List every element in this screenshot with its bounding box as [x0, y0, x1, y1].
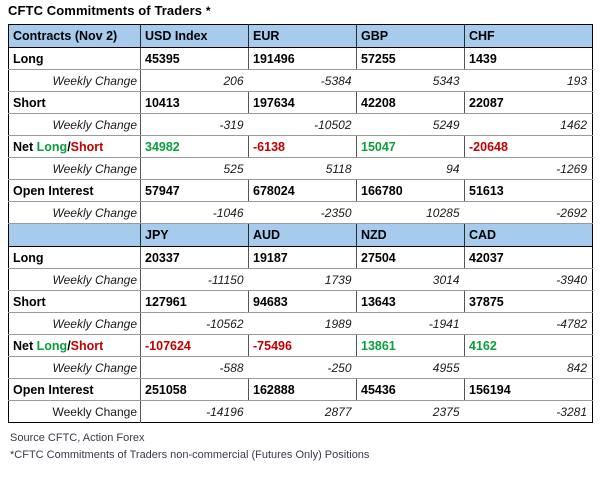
cell-short-cad: 37875 — [465, 291, 593, 313]
header-contracts-label: Contracts (Nov 2) — [9, 25, 141, 48]
row-label-net-long-short: Net Long/Short — [9, 136, 141, 158]
cell-net-chf: -20648 — [465, 136, 593, 158]
cell-net-wc-chf: -1269 — [465, 158, 593, 180]
header-col-gbp: GBP — [357, 25, 465, 48]
cell-oi-chf: 51613 — [465, 180, 593, 202]
page-title-text: CFTC Commitments of Traders — [8, 3, 202, 18]
cell-net-wc-jpy: -588 — [141, 357, 249, 379]
row-label-net-long-short: Net Long/Short — [9, 335, 141, 357]
cell-short-wc-aud: 1989 — [249, 313, 357, 335]
cell-short-wc-nzd: -1941 — [357, 313, 465, 335]
row-label-open-interest: Open Interest — [9, 379, 141, 401]
cell-oi-aud: 162888 — [249, 379, 357, 401]
header-col-chf: CHF — [465, 25, 593, 48]
table-row: Net Long/Short -107624 -75496 13861 4162 — [9, 335, 593, 357]
cell-oi-wc-jpy: -14196 — [141, 401, 249, 423]
cell-short-wc-jpy: -10562 — [141, 313, 249, 335]
cell-net-wc-eur: 5118 — [249, 158, 357, 180]
cell-long-jpy: 20337 — [141, 247, 249, 269]
table-row: Weekly Change -319 -10502 5249 1462 — [9, 114, 593, 136]
table-row: Weekly Change -14196 2877 2375 -3281 — [9, 401, 593, 423]
header-col-nzd: NZD — [357, 224, 465, 247]
cell-oi-eur: 678024 — [249, 180, 357, 202]
cell-net-nzd: 13861 — [357, 335, 465, 357]
cell-net-jpy: -107624 — [141, 335, 249, 357]
row-label-long: Long — [9, 48, 141, 70]
cell-long-wc-cad: -3940 — [465, 269, 593, 291]
table-row: Weekly Change 206 -5384 5343 193 — [9, 70, 593, 92]
row-label-short: Short — [9, 92, 141, 114]
cell-oi-wc-chf: -2692 — [465, 202, 593, 224]
cell-long-wc-chf: 193 — [465, 70, 593, 92]
cell-net-gbp: 15047 — [357, 136, 465, 158]
table-row: Open Interest 251058 162888 45436 156194 — [9, 379, 593, 401]
row-label-weekly-change: Weekly Change — [9, 269, 141, 291]
header-col-aud: AUD — [249, 224, 357, 247]
cell-net-usd-index: 34982 — [141, 136, 249, 158]
cell-short-jpy: 127961 — [141, 291, 249, 313]
net-word: Net — [13, 339, 33, 353]
cell-oi-wc-aud: 2877 — [249, 401, 357, 423]
cell-oi-wc-usd-index: -1046 — [141, 202, 249, 224]
cell-net-wc-usd-index: 525 — [141, 158, 249, 180]
cell-net-cad: 4162 — [465, 335, 593, 357]
cell-oi-wc-nzd: 2375 — [357, 401, 465, 423]
footer-source-line: Source CFTC, Action Forex — [10, 430, 369, 447]
cell-net-aud: -75496 — [249, 335, 357, 357]
net-short-word: Short — [71, 140, 104, 154]
header-col-cad: CAD — [465, 224, 593, 247]
cell-net-wc-gbp: 94 — [357, 158, 465, 180]
cell-short-usd-index: 10413 — [141, 92, 249, 114]
cell-long-aud: 19187 — [249, 247, 357, 269]
row-label-open-interest: Open Interest — [9, 180, 141, 202]
row-label-weekly-change: Weekly Change — [9, 313, 141, 335]
table-row: Weekly Change -10562 1989 -1941 -4782 — [9, 313, 593, 335]
row-label-weekly-change: Weekly Change — [9, 158, 141, 180]
table-row: Weekly Change 525 5118 94 -1269 — [9, 158, 593, 180]
cell-oi-jpy: 251058 — [141, 379, 249, 401]
cell-long-wc-jpy: -11150 — [141, 269, 249, 291]
cell-net-eur: -6138 — [249, 136, 357, 158]
table-row: Weekly Change -588 -250 4955 842 — [9, 357, 593, 379]
cell-net-wc-cad: 842 — [465, 357, 593, 379]
cell-oi-wc-cad: -3281 — [465, 401, 593, 423]
cell-net-wc-nzd: 4955 — [357, 357, 465, 379]
cell-short-nzd: 13643 — [357, 291, 465, 313]
cell-net-wc-aud: -250 — [249, 357, 357, 379]
header-col-eur: EUR — [249, 25, 357, 48]
cell-oi-cad: 156194 — [465, 379, 593, 401]
cell-long-gbp: 57255 — [357, 48, 465, 70]
row-label-short: Short — [9, 291, 141, 313]
cell-long-wc-nzd: 3014 — [357, 269, 465, 291]
cell-short-wc-eur: -10502 — [249, 114, 357, 136]
row-label-weekly-change: Weekly Change — [9, 401, 141, 423]
net-word: Net — [13, 140, 33, 154]
table-row: Long 20337 19187 27504 42037 — [9, 247, 593, 269]
cell-long-nzd: 27504 — [357, 247, 465, 269]
cell-oi-usd-index: 57947 — [141, 180, 249, 202]
header-blank-label — [9, 224, 141, 247]
header-col-usd-index: USD Index — [141, 25, 249, 48]
row-label-long: Long — [9, 247, 141, 269]
header-col-jpy: JPY — [141, 224, 249, 247]
table-row: Net Long/Short 34982 -6138 15047 -20648 — [9, 136, 593, 158]
cot-data-table: Contracts (Nov 2) USD Index EUR GBP CHF … — [8, 24, 593, 423]
table-row: Short 10413 197634 42208 22087 — [9, 92, 593, 114]
cell-long-chf: 1439 — [465, 48, 593, 70]
cell-short-aud: 94683 — [249, 291, 357, 313]
net-long-word: Long — [37, 140, 68, 154]
table-row: Long 45395 191496 57255 1439 — [9, 48, 593, 70]
cell-long-eur: 191496 — [249, 48, 357, 70]
page-title-asterisk: * — [206, 4, 211, 18]
table-row: Short 127961 94683 13643 37875 — [9, 291, 593, 313]
cell-long-wc-aud: 1739 — [249, 269, 357, 291]
cell-short-chf: 22087 — [465, 92, 593, 114]
cell-short-wc-gbp: 5249 — [357, 114, 465, 136]
row-label-weekly-change: Weekly Change — [9, 114, 141, 136]
cell-oi-wc-gbp: 10285 — [357, 202, 465, 224]
net-long-word: Long — [37, 339, 68, 353]
cell-long-wc-eur: -5384 — [249, 70, 357, 92]
table-row: Open Interest 57947 678024 166780 51613 — [9, 180, 593, 202]
cell-short-gbp: 42208 — [357, 92, 465, 114]
page-title: CFTC Commitments of Traders * — [8, 3, 211, 18]
footer-notes: Source CFTC, Action Forex *CFTC Commitme… — [10, 430, 369, 464]
row-label-weekly-change: Weekly Change — [9, 70, 141, 92]
cell-long-usd-index: 45395 — [141, 48, 249, 70]
cell-short-eur: 197634 — [249, 92, 357, 114]
table-row: Weekly Change -11150 1739 3014 -3940 — [9, 269, 593, 291]
table-row: Weekly Change -1046 -2350 10285 -2692 — [9, 202, 593, 224]
row-label-weekly-change: Weekly Change — [9, 202, 141, 224]
cell-oi-wc-eur: -2350 — [249, 202, 357, 224]
row-label-weekly-change: Weekly Change — [9, 357, 141, 379]
footer-definition-line: *CFTC Commitments of Traders non-commerc… — [10, 447, 369, 464]
net-short-word: Short — [71, 339, 104, 353]
cot-report-page: CFTC Commitments of Traders * Contracts … — [0, 0, 600, 481]
cell-long-wc-gbp: 5343 — [357, 70, 465, 92]
table-header-row-2: JPY AUD NZD CAD — [9, 224, 593, 247]
cell-oi-gbp: 166780 — [357, 180, 465, 202]
cell-short-wc-usd-index: -319 — [141, 114, 249, 136]
cell-long-cad: 42037 — [465, 247, 593, 269]
table-header-row-1: Contracts (Nov 2) USD Index EUR GBP CHF — [9, 25, 593, 48]
cell-long-wc-usd-index: 206 — [141, 70, 249, 92]
cell-oi-nzd: 45436 — [357, 379, 465, 401]
cell-short-wc-cad: -4782 — [465, 313, 593, 335]
cell-short-wc-chf: 1462 — [465, 114, 593, 136]
